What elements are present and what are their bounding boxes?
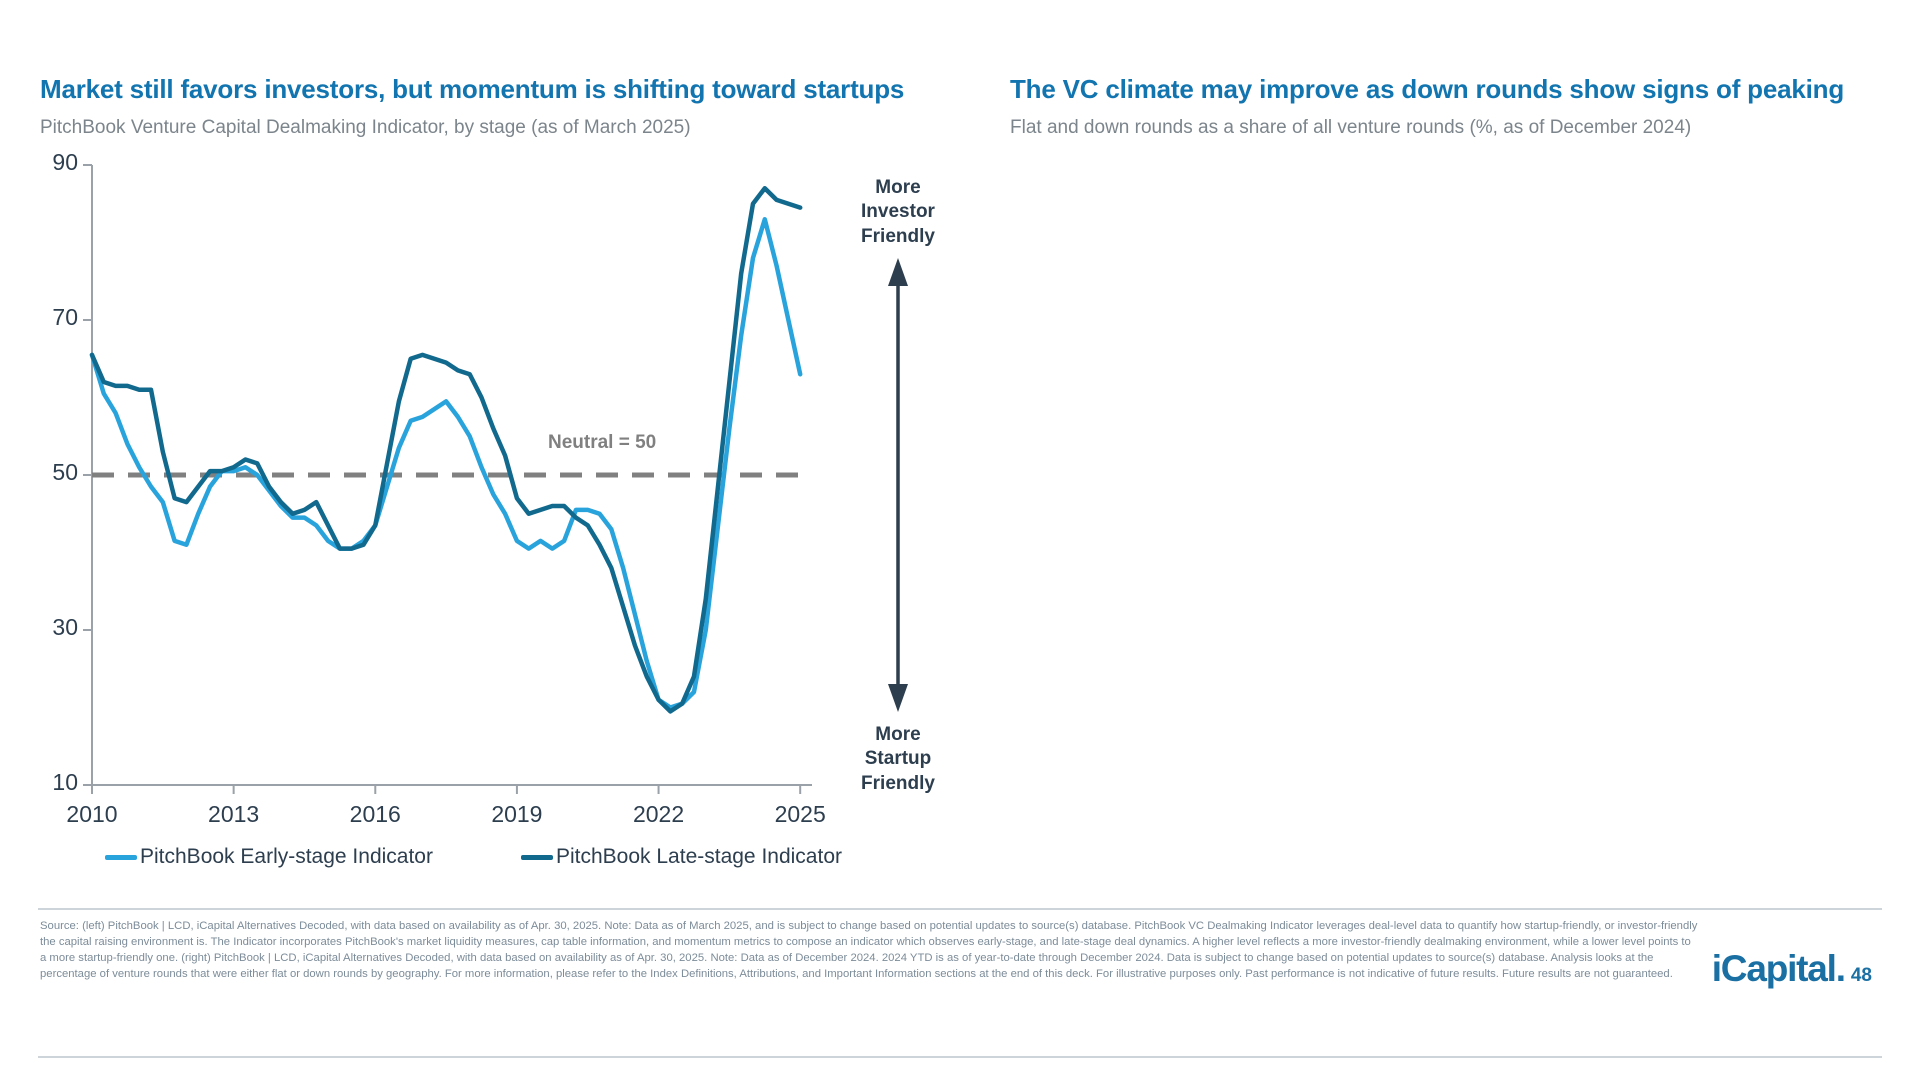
left-chart-title: Market still favors investors, but momen… [40, 74, 904, 105]
left-chart-plot-area [92, 165, 812, 785]
source-footnote: Source: (left) PitchBook | LCD, iCapital… [40, 918, 1700, 982]
right-chart-subtitle: Flat and down rounds as a share of all v… [1010, 117, 1691, 139]
legend-item-early-stage[interactable]: PitchBook Early-stage Indicator [105, 845, 433, 869]
legend-swatch-line-icon [521, 855, 553, 860]
legend-item-late-stage[interactable]: PitchBook Late-stage Indicator [521, 845, 842, 869]
left-chart-legend: PitchBook Early-stage Indicator PitchBoo… [105, 845, 842, 869]
left-chart-subtitle: PitchBook Venture Capital Dealmaking Ind… [40, 117, 691, 139]
legend-label: PitchBook Early-stage Indicator [140, 845, 433, 869]
annotation-line: More [828, 176, 968, 200]
annotation-line: Friendly [828, 772, 968, 796]
double-arrow-icon [828, 256, 968, 714]
y-axis-tick-label: 10 [0, 769, 78, 796]
x-axis-tick-label: 2022 [599, 801, 719, 828]
neutral-reference-label: Neutral = 50 [548, 432, 656, 454]
slide-page: Market still favors investors, but momen… [0, 0, 1920, 1080]
right-chart-panel: The VC climate may improve as down round… [990, 0, 1920, 900]
annotation-line: Investor [828, 200, 968, 224]
brand-dot: . [1836, 948, 1845, 989]
footer-divider-top [38, 908, 1882, 910]
brand-name: iCapital [1712, 948, 1836, 989]
x-axis-tick-label: 2016 [315, 801, 435, 828]
page-number: 48 [1851, 965, 1872, 987]
brand-mark: iCapital. 48 [1712, 948, 1872, 990]
legend-label: PitchBook Late-stage Indicator [556, 845, 842, 869]
x-axis-tick-label: 2025 [740, 801, 860, 828]
annotation-more-investor-friendly: More Investor Friendly [828, 176, 968, 249]
right-chart-title: The VC climate may improve as down round… [1010, 74, 1844, 105]
friendliness-annotation: More Investor Friendly More Startup Frie… [828, 176, 968, 796]
footer-divider-bottom [38, 1056, 1882, 1058]
annotation-line: Friendly [828, 225, 968, 249]
x-axis-tick-label: 2013 [174, 801, 294, 828]
y-axis-tick-label: 90 [0, 149, 78, 176]
legend-swatch-line-icon [105, 855, 137, 860]
left-chart-panel: Market still favors investors, but momen… [0, 0, 990, 900]
annotation-more-startup-friendly: More Startup Friendly [828, 723, 968, 796]
icapital-logo: iCapital. [1712, 948, 1845, 990]
x-axis-tick-label: 2010 [32, 801, 152, 828]
x-axis-tick-label: 2019 [457, 801, 577, 828]
annotation-line: More [828, 723, 968, 747]
slide-footer: Source: (left) PitchBook | LCD, iCapital… [0, 890, 1920, 1080]
left-chart-svg [92, 165, 812, 785]
y-axis-tick-label: 70 [0, 304, 78, 331]
annotation-line: Startup [828, 747, 968, 771]
y-axis-tick-label: 50 [0, 459, 78, 486]
y-axis-tick-label: 30 [0, 614, 78, 641]
